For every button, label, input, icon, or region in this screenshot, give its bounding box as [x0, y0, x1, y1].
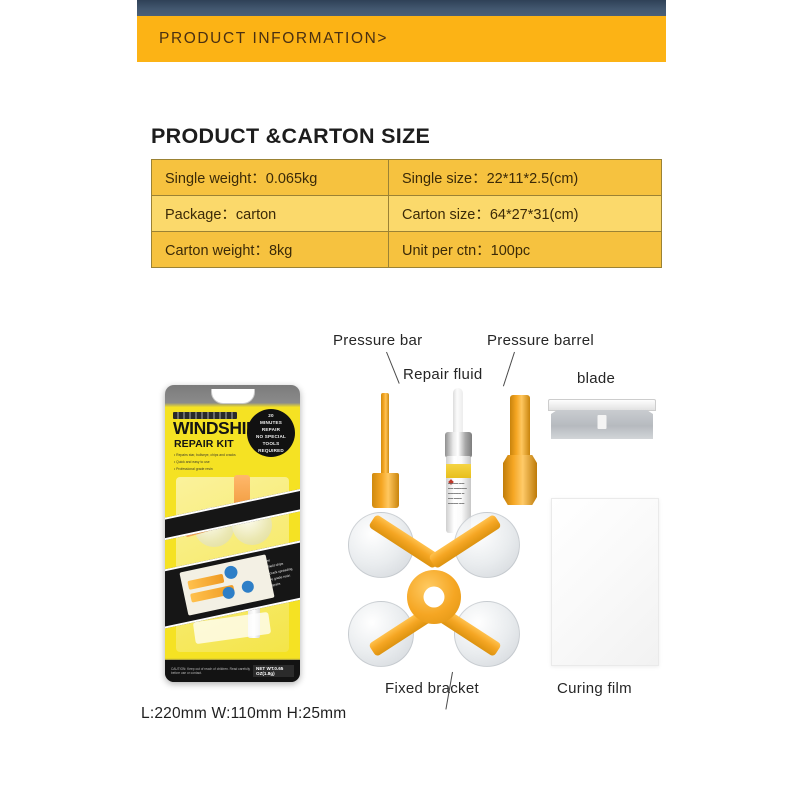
package-bullets: • Repairs star, bullseye, chips and crac…: [174, 452, 262, 473]
curing-film-part: [551, 498, 659, 666]
pressure-barrel-part: [503, 395, 537, 505]
product-showcase: Pressure bar Pressure barrel Repair flui…: [0, 300, 800, 740]
pressure-barrel-neck: [510, 395, 530, 461]
pressure-bar-part: [370, 393, 402, 508]
spec-cell-package: Package：carton: [152, 196, 389, 232]
repair-fluid-label-text: ▬▬▬▬ ▬▬▬▬ ▬▬▬▬▬▬▬▬▬▬ ▬▬▬ ▬▬▬▬▬▬▬ ▬▬: [448, 482, 469, 507]
package-sub-title: REPAIR KIT: [174, 438, 234, 450]
bracket-hub: [407, 570, 461, 624]
fixed-bracket-part: [348, 512, 520, 667]
bracket-hub-hole: [424, 587, 445, 608]
pressure-bar-base: [372, 473, 399, 508]
leader-line-pressure-bar: [386, 352, 400, 384]
card-tool-cap-a: [223, 565, 238, 580]
spec-cell-single-weight: Single weight：0.065kg: [152, 160, 389, 196]
label-repair-fluid: Repair fluid: [403, 366, 482, 383]
label-fixed-bracket: Fixed bracket: [385, 680, 479, 697]
pressure-barrel-base: [503, 455, 537, 505]
package-footer: CAUTION: Keep out of reach of children. …: [165, 660, 300, 682]
repair-fluid-tip: [453, 388, 463, 436]
pressure-bar-shaft: [381, 393, 389, 477]
package-badge: 20 MINUTES REPAIR NO SPECIAL TOOLS REQUI…: [247, 409, 295, 457]
razor-blade-spine: [548, 399, 656, 411]
header-band: PRODUCT INFORMATION>: [137, 16, 666, 62]
spec-table: Single weight：0.065kg Single size：22*11*…: [151, 159, 662, 268]
hang-hole: [211, 389, 255, 404]
spec-cell-single-size: Single size：22*11*2.5(cm): [389, 160, 662, 196]
razor-blade-part: [548, 399, 656, 441]
repair-fluid-collar: [445, 432, 472, 458]
label-pressure-bar: Pressure bar: [333, 332, 422, 349]
leader-line-pressure-barrel: [503, 352, 515, 387]
spec-section: PRODUCT &CARTON SIZE Single weight：0.065…: [151, 124, 661, 268]
table-row: Single weight：0.065kg Single size：22*11*…: [152, 160, 662, 196]
spec-heading: PRODUCT &CARTON SIZE: [151, 124, 661, 149]
dimension-caption: L:220mm W:110mm H:25mm: [141, 705, 346, 723]
spec-cell-carton-size: Carton size：64*27*31(cm): [389, 196, 662, 232]
package-footer-weight: NET WT.0.65 OZ(1.8g): [253, 665, 294, 677]
label-pressure-barrel: Pressure barrel: [487, 332, 594, 349]
razor-blade-notch: [598, 415, 607, 429]
table-row: Package：carton Carton size：64*27*31(cm): [152, 196, 662, 232]
header-top-strip: [137, 0, 666, 16]
table-row: Carton weight：8kg Unit per ctn：100pc: [152, 232, 662, 268]
page-title: PRODUCT INFORMATION>: [137, 30, 388, 48]
blister-package: WINDSHIELD REPAIR KIT • Repairs star, bu…: [165, 385, 300, 682]
package-footer-warning: CAUTION: Keep out of reach of children. …: [171, 667, 253, 675]
repair-fluid-label-band: [446, 464, 471, 478]
label-curing-film: Curing film: [557, 680, 632, 697]
spec-cell-unit-per-ctn: Unit per ctn：100pc: [389, 232, 662, 268]
spec-cell-carton-weight: Carton weight：8kg: [152, 232, 389, 268]
card-tool-cap-c: [241, 580, 255, 594]
label-blade: blade: [577, 370, 615, 387]
